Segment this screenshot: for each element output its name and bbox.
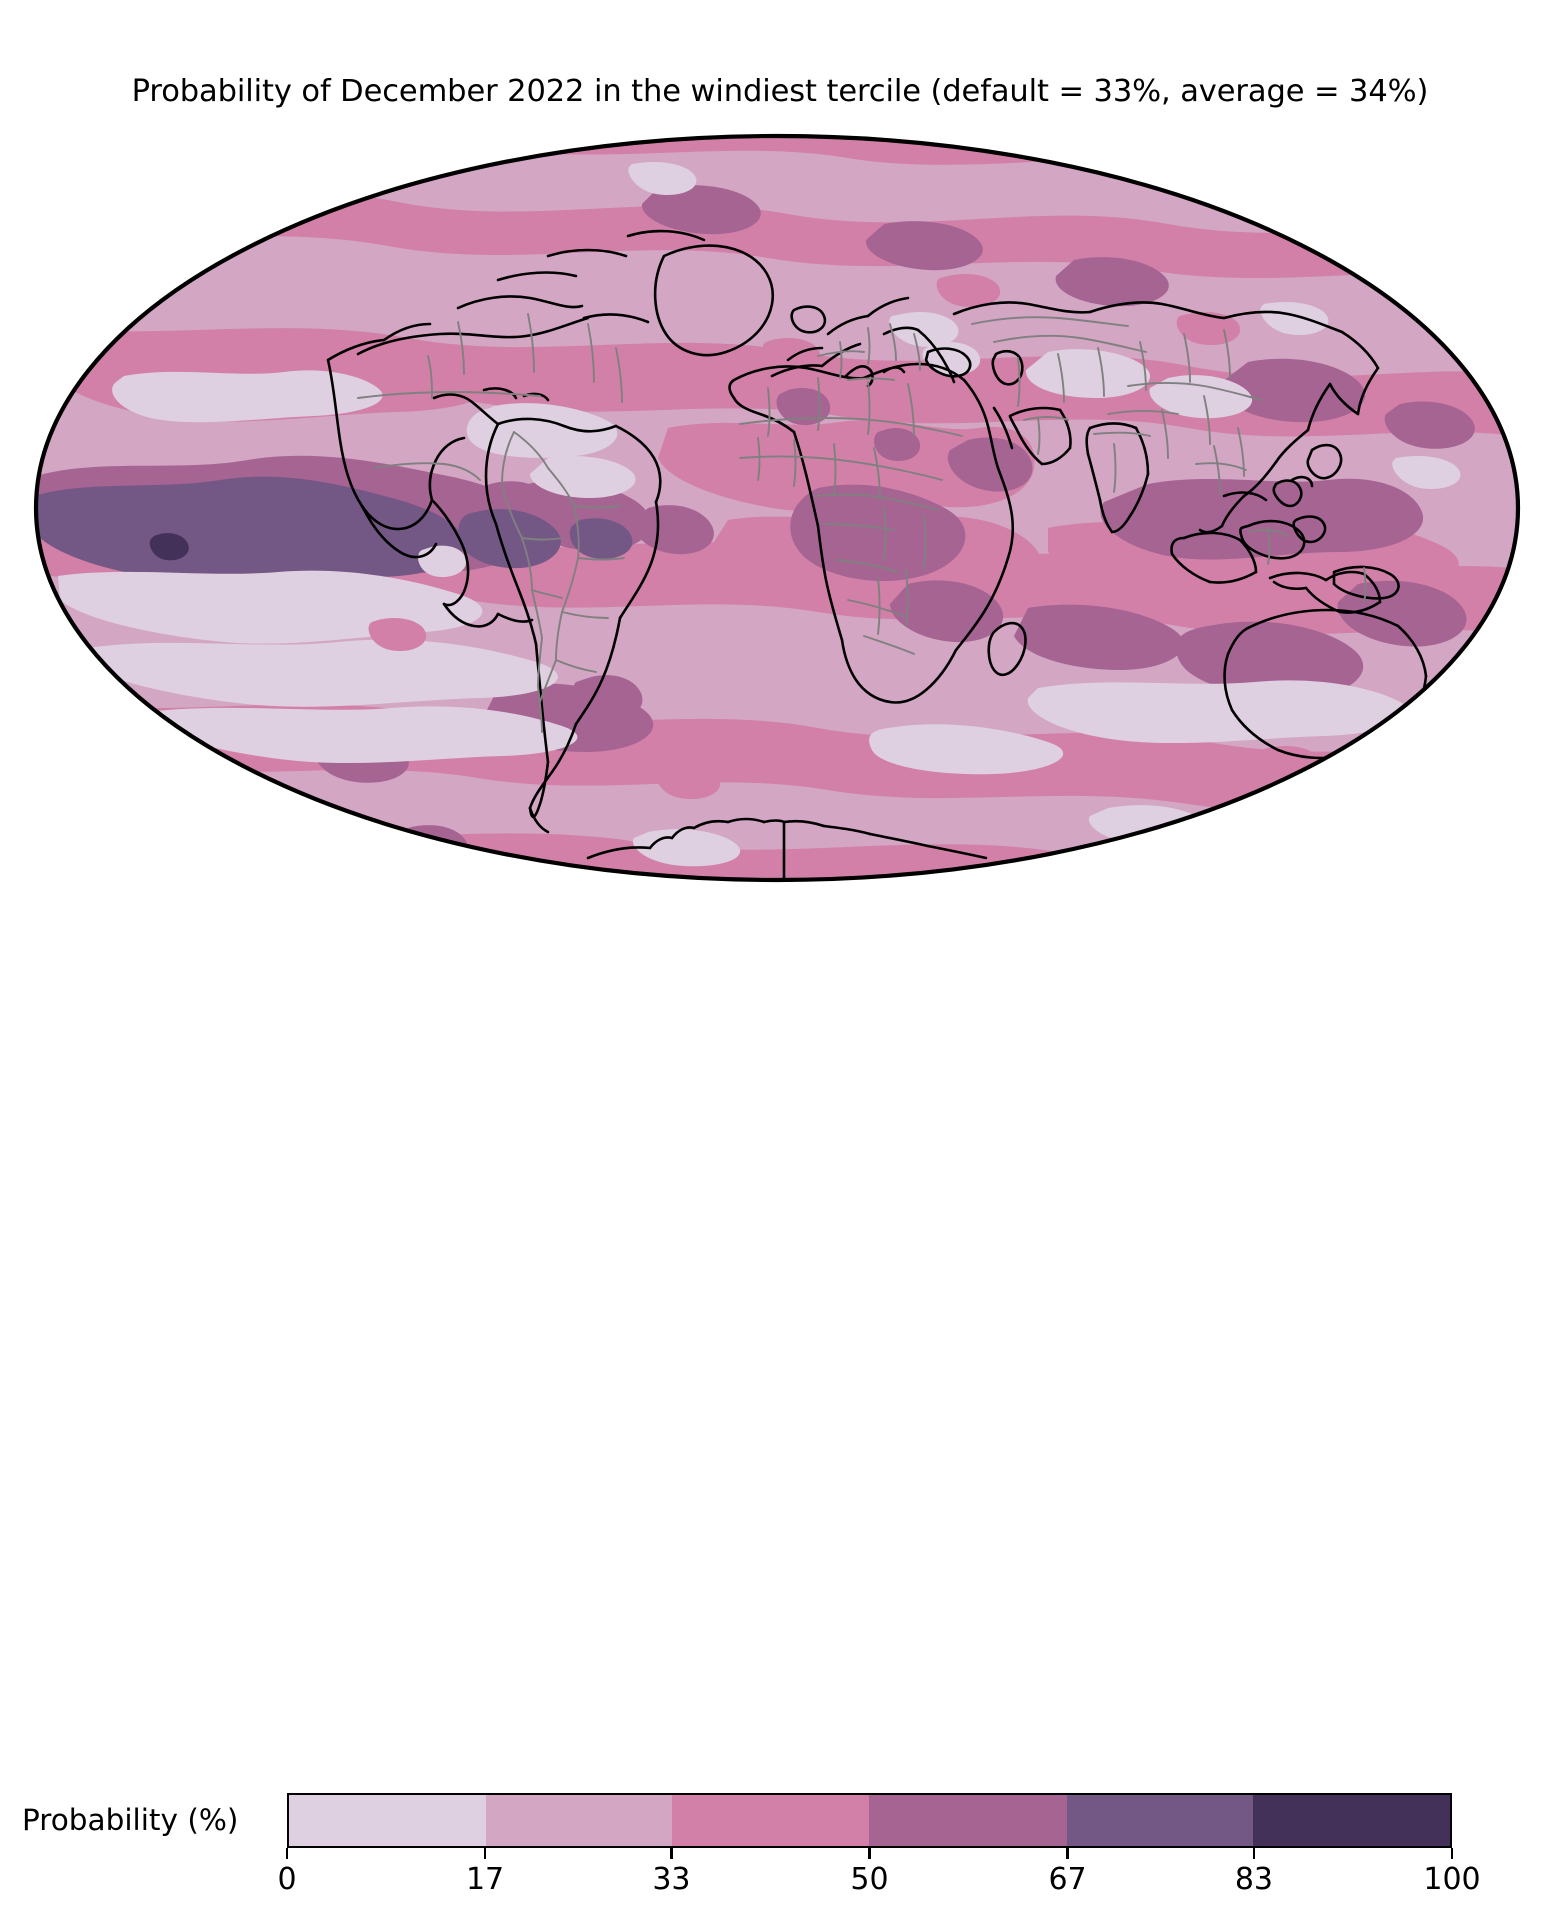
colorbar-tick-label-17: 17 [466, 1862, 504, 1897]
probability-field [28, 128, 1528, 890]
colorbar-segment-5 [1253, 1795, 1450, 1846]
colorbar-ticks [0, 1848, 1560, 1860]
colorbar-tick-0 [286, 1848, 288, 1859]
figure-canvas: Probability of December 2022 in the wind… [0, 0, 1560, 1031]
map-axes [28, 128, 1528, 890]
colorbar-segment-2 [672, 1795, 869, 1846]
colorbar: Probability (%) 01733506783100 [0, 890, 1560, 1031]
colorbar-tick-label-33: 33 [652, 1862, 690, 1897]
colorbar-tick-label-67: 67 [1048, 1862, 1086, 1897]
colorbar-segment-0 [289, 1795, 486, 1846]
colorbar-tick-83 [1253, 1848, 1255, 1859]
colorbar-tick-67 [1066, 1848, 1068, 1859]
mollweide-map [28, 128, 1528, 890]
colorbar-gradient [287, 1793, 1452, 1848]
colorbar-segment-4 [1067, 1795, 1253, 1846]
colorbar-label: Probability (%) [22, 1803, 280, 1837]
colorbar-segment-1 [486, 1795, 672, 1846]
colorbar-tick-label-83: 83 [1235, 1862, 1273, 1897]
colorbar-tick-33 [670, 1848, 672, 1859]
colorbar-tick-50 [868, 1848, 870, 1859]
colorbar-segment-3 [869, 1795, 1066, 1846]
colorbar-tick-labels: 01733506783100 [0, 1862, 1560, 1906]
colorbar-tick-label-100: 100 [1423, 1862, 1480, 1897]
colorbar-tick-17 [484, 1848, 486, 1859]
chart-title: Probability of December 2022 in the wind… [0, 74, 1560, 109]
colorbar-tick-100 [1451, 1848, 1453, 1859]
colorbar-tick-label-0: 0 [277, 1862, 296, 1897]
colorbar-tick-label-50: 50 [850, 1862, 888, 1897]
